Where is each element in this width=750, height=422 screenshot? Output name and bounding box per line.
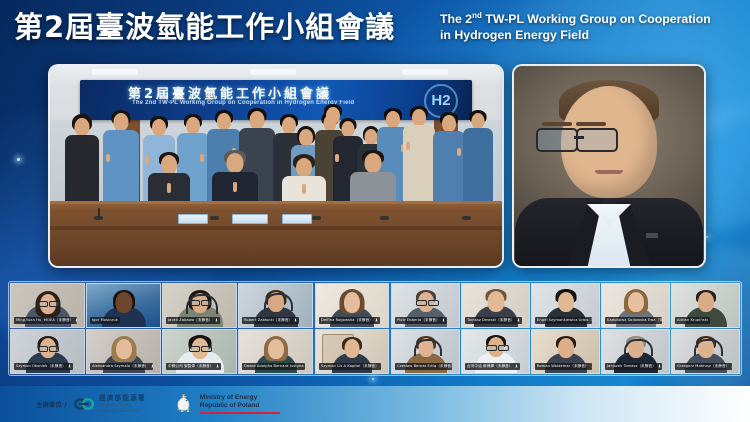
microphone-muted-icon	[442, 318, 445, 323]
participant-name: Adrian Krupiński	[677, 317, 708, 324]
participant-tile[interactable]: Dawid Adolpho Bernard Justyna（未靜音）	[238, 329, 313, 374]
microphone-muted-icon	[216, 364, 219, 369]
gallery-row: Czesław Bernat Ertiq（未靜音） 台灣中油 鄭博譯（未靜音）	[391, 329, 740, 374]
video-conference-screen: 第2屆臺波氫能工作小組會議 The 2nd TW-PL Working Grou…	[0, 0, 750, 422]
participant-name-badge: Roman Waldemar（未靜音）	[535, 363, 592, 371]
participant-tile[interactable]: Aleksandra Szymala（未靜音）	[86, 329, 161, 374]
speaker-eyeglass-right	[576, 128, 618, 152]
participant-name: Engel Szymonkiewicz Urbis（未靜音）	[537, 317, 592, 324]
microphone-muted-icon	[294, 318, 297, 323]
gallery-row: Ming-Yuan Hu, MOEA（未靜音） Igor Mosiczuk	[10, 283, 314, 328]
poland-eagle-emblem-icon	[174, 392, 196, 416]
group-photo-tile[interactable]: 第2屆臺波氫能工作小組會議 The 2nd TW-PL Working Grou…	[48, 64, 504, 268]
speaker-eyeglass-left	[536, 128, 578, 152]
speaker-lapel-badge	[646, 233, 658, 238]
title-en-suffix: TW-PL Working Group on Cooperation	[482, 12, 711, 26]
seated-attendee	[350, 150, 396, 208]
footer-bar: 主辦單位 / 經濟部能源署 Energy Administration, Min…	[0, 386, 750, 422]
microphone-muted-icon	[151, 364, 153, 369]
attendee	[102, 110, 140, 206]
participant-name-badge: 台灣中油 鄭博譯（未靜音）	[465, 363, 520, 371]
participant-tile[interactable]: Szymon Lis A Kapitał（未靜音）	[315, 329, 389, 374]
conference-table	[50, 201, 502, 266]
microphone-muted-icon	[658, 364, 661, 369]
poland-ministry-logo: Ministry of Energy Republic of Poland	[174, 392, 280, 416]
participant-name-badge: Engel Szymonkiewicz Urbis（未靜音）	[535, 317, 592, 325]
participant-tile[interactable]: 中鋼公司 謝智偉（未靜音）	[162, 329, 237, 374]
microphone-muted-icon	[215, 318, 218, 323]
host-label: 主辦單位 /	[36, 400, 67, 409]
participant-tile[interactable]: Engel Szymonkiewicz Urbis（未靜音）	[531, 283, 600, 328]
headset-icon	[694, 339, 723, 356]
participant-name-badge: 中鋼公司 謝智偉（未靜音）	[166, 363, 221, 371]
ceiling-light	[402, 69, 448, 75]
attendee	[462, 110, 494, 206]
participant-name-badge: Aleksandra Szymala（未靜音）	[90, 363, 153, 371]
headset-icon	[624, 339, 653, 356]
seated-attendee	[148, 152, 190, 208]
participant-name-badge: Robert Zabłocki（未靜音）	[242, 317, 299, 325]
participant-tile[interactable]: 台灣中油 鄭博譯（未靜音）	[461, 329, 530, 374]
participant-name: Szymon Lis A Kapitał（未靜音）	[321, 363, 379, 370]
participant-tile[interactable]: Ming-Yuan Hu, MOEA（未靜音）	[10, 283, 85, 328]
gallery-block-right: Piotr Ebberia（未靜音） Tomasz Dmeski（未靜音）	[391, 283, 740, 374]
microphone-muted-icon	[517, 318, 520, 323]
participant-name-badge: Adrian Krupiński	[675, 317, 710, 325]
participant-name: Delfina Rogowska（未靜音）	[321, 317, 373, 324]
microphone-muted-icon	[731, 364, 732, 369]
meeting-room-scene: 第2屆臺波氫能工作小組會議 The 2nd TW-PL Working Grou…	[50, 66, 502, 266]
participant-tile[interactable]: Szymon Okoniek（未靜音）	[10, 329, 85, 374]
participant-name-badge: Janiszek Tomasz（未靜音）	[605, 363, 662, 371]
participant-name-badge: Piotr Ebberia（未靜音）	[395, 317, 447, 325]
microphone-base	[380, 216, 389, 220]
participant-name: Piotr Ebberia（未靜音）	[397, 317, 440, 324]
header-banner: 第2屆臺波氫能工作小組會議 The 2nd TW-PL Working Grou…	[0, 0, 750, 56]
participant-name-badge: Igor Mosiczuk	[90, 317, 120, 325]
participant-tile[interactable]: Czesław Bernat Ertiq（未靜音）	[391, 329, 460, 374]
participant-name-badge: Szymon Okoniek（未靜音）	[14, 363, 73, 371]
seated-attendee	[282, 154, 326, 208]
participant-name-badge: Czesław Bernat Ertiq（未靜音）	[395, 363, 452, 371]
microphone-muted-icon	[375, 318, 378, 323]
microphone-muted-icon	[591, 364, 592, 369]
participant-name-badge: Tomasz Dmeski（未靜音）	[465, 317, 522, 325]
desk-nameplate	[232, 214, 268, 224]
page-title-chinese: 第2屆臺波氫能工作小組會議	[14, 6, 395, 48]
main-video-row: 第2屆臺波氫能工作小組會議 The 2nd TW-PL Working Grou…	[0, 58, 750, 274]
participant-tile[interactable]: Robert Zabłocki（未靜音）	[238, 283, 313, 328]
microphone-base	[462, 216, 471, 220]
attendee	[402, 106, 436, 206]
participant-tile[interactable]: Janiszek Tomasz（未靜音）	[601, 329, 670, 374]
attendee	[432, 112, 466, 206]
title-en-ordinal: nd	[472, 11, 482, 20]
participant-name-badge: Kądubowa Sadowska Ewa（未靜音）	[605, 317, 662, 325]
participant-name: Igor Mosiczuk	[92, 317, 118, 324]
energy-administration-mark-icon	[73, 396, 95, 412]
desk-nameplate	[282, 214, 312, 224]
participant-name-badge: Dawid Adolpho Bernard Justyna（未靜音）	[242, 363, 305, 371]
active-speaker-tile[interactable]	[512, 64, 706, 268]
participant-tile[interactable]: Grzegorz Mateusz（未靜音）	[671, 329, 740, 374]
participant-name: Janiszek Tomasz（未靜音）	[607, 363, 656, 370]
participant-tile[interactable]: Roman Waldemar（未靜音）	[531, 329, 600, 374]
participant-name-badge: Ming-Yuan Hu, MOEA（未靜音）	[14, 317, 77, 325]
background-sparkle	[372, 378, 374, 380]
headset-icon	[264, 293, 293, 311]
poland-accent-rule	[200, 412, 280, 414]
microphone-stem	[98, 208, 100, 218]
gallery-row: Szymon Okoniek（未靜音） Aleksandra Szymala（未…	[10, 329, 314, 374]
speaker-eyeglass-bridge	[574, 136, 584, 139]
participant-name: Tomasz Dmeski（未靜音）	[467, 317, 515, 324]
participant-tile[interactable]: Adrian Krupiński	[671, 283, 740, 328]
gallery-row: Piotr Ebberia（未靜音） Tomasz Dmeski（未靜音）	[391, 283, 740, 328]
energy-administration-name-en-1: Energy Administration,	[99, 403, 146, 407]
participant-name: Grzegorz Mateusz（未靜音）	[677, 363, 729, 370]
ceiling-light	[92, 69, 138, 75]
speaker-eyebrow-left	[542, 122, 572, 126]
participant-name-badge: Jacek Zabawa（未靜音）	[166, 317, 220, 325]
participant-name: 台灣中油 鄭博譯（未靜音）	[467, 363, 513, 370]
energy-administration-name-zh: 經濟部能源署	[99, 395, 146, 402]
participant-name: Roman Waldemar（未靜音）	[537, 363, 589, 370]
title-en-prefix: The 2	[440, 12, 472, 26]
participant-name: Jacek Zabawa（未靜音）	[168, 317, 213, 324]
headset-icon	[186, 294, 218, 314]
participant-tile[interactable]: Piotr Ebberia（未靜音）	[391, 283, 460, 328]
participant-name-badge: Delfina Rogowska（未靜音）	[319, 317, 380, 325]
participant-name: Szymon Okoniek（未靜音）	[16, 363, 66, 370]
attendee	[64, 114, 100, 206]
poland-ministry-line2: Republic of Poland	[200, 402, 280, 410]
energy-administration-name-en-2: Ministry of Economic Affairs	[99, 409, 146, 413]
microphone-muted-icon	[515, 364, 518, 369]
participant-tile[interactable]: Tomasz Dmeski（未靜音）	[461, 283, 530, 328]
ceiling-light	[250, 69, 296, 75]
participant-name: Kądubowa Sadowska Ewa（未靜音）	[607, 317, 662, 324]
participant-tile[interactable]: Delfina Rogowska（未靜音）	[315, 283, 389, 328]
participant-tile[interactable]: Kądubowa Sadowska Ewa（未靜音）	[601, 283, 670, 328]
microphone-muted-icon	[75, 318, 77, 323]
participant-name: Robert Zabłocki（未靜音）	[244, 317, 292, 324]
microphone-base	[312, 216, 321, 220]
poland-ministry-line1: Ministry of Energy	[200, 394, 280, 402]
participant-gallery[interactable]: Ming-Yuan Hu, MOEA（未靜音） Igor Mosiczuk	[8, 281, 742, 376]
gallery-block-left: Ming-Yuan Hu, MOEA（未靜音） Igor Mosiczuk	[10, 283, 314, 374]
participant-tile[interactable]: Igor Mosiczuk	[86, 283, 161, 328]
seated-attendee	[212, 150, 258, 208]
speaker-mouth	[595, 170, 623, 174]
participant-name-badge: Szymon Lis A Kapitał（未靜音）	[319, 363, 381, 371]
gallery-block-center: Delfina Rogowska（未靜音） Szymon Lis A Kapit…	[315, 283, 389, 374]
speaker-eyebrow-right	[576, 122, 606, 126]
participant-name: Czesław Bernat Ertiq（未靜音）	[397, 363, 452, 370]
microphone-muted-icon	[68, 364, 71, 369]
participant-name: Aleksandra Szymala（未靜音）	[92, 363, 149, 370]
page-title-english: The 2nd TW-PL Working Group on Cooperati…	[440, 8, 740, 43]
participant-name: Ming-Yuan Hu, MOEA（未靜音）	[16, 317, 73, 324]
participant-name-badge: Grzegorz Mateusz（未靜音）	[675, 363, 732, 371]
participant-tile[interactable]: Jacek Zabawa（未靜音）	[162, 283, 237, 328]
title-en-line2: in Hydrogen Energy Field	[440, 28, 589, 42]
desk-nameplate	[178, 214, 208, 224]
microphone-base	[210, 216, 219, 220]
participant-name: Dawid Adolpho Bernard Justyna（未靜音）	[244, 363, 305, 370]
energy-administration-logo: 經濟部能源署 Energy Administration, Ministry o…	[73, 395, 146, 413]
participant-name: 中鋼公司 謝智偉（未靜音）	[168, 363, 214, 370]
headset-icon	[414, 339, 442, 356]
